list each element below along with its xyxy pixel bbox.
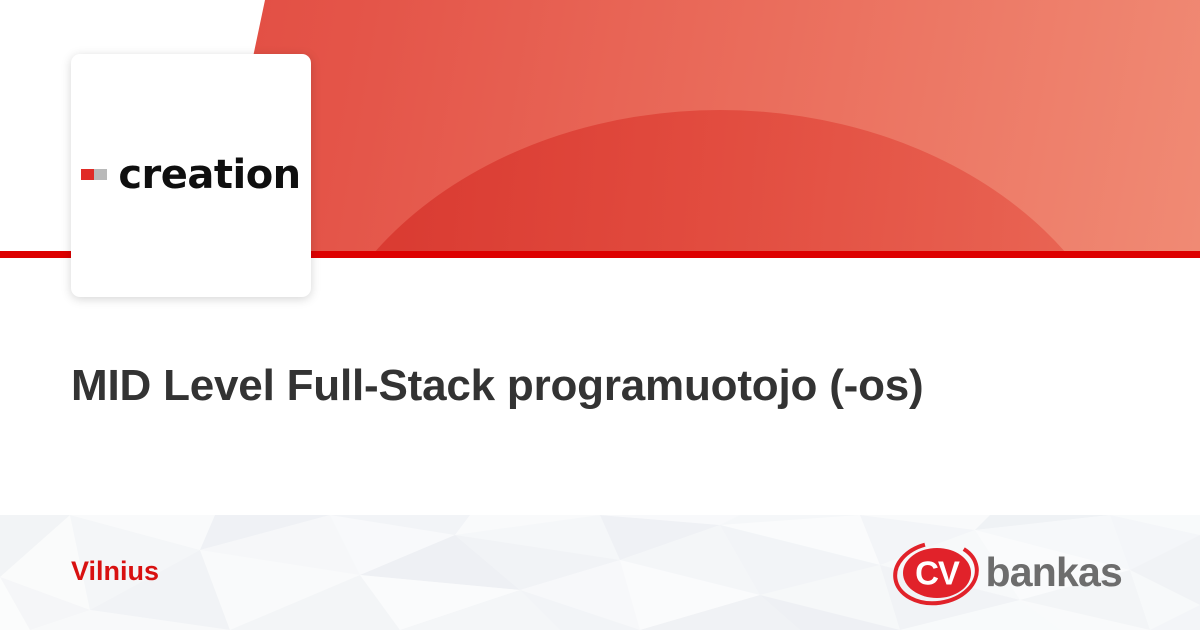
- job-location: Vilnius: [71, 556, 159, 587]
- svg-text:CV: CV: [915, 555, 960, 592]
- creation-square-gray-icon: [94, 169, 107, 180]
- creation-square-red-icon: [81, 169, 94, 180]
- company-logo-wordmark: creation: [118, 155, 300, 195]
- job-title: MID Level Full-Stack programuotojo (-os): [71, 357, 1121, 414]
- creation-squares-icon: [81, 169, 107, 180]
- cvbankas-logo[interactable]: CV bankas: [892, 540, 1123, 606]
- company-logo: creation: [81, 155, 300, 195]
- cv-badge-icon: CV: [892, 540, 984, 606]
- share-card: creation MID Level Full-Stack programuot…: [0, 0, 1200, 630]
- company-logo-card: creation: [71, 54, 311, 297]
- banner-arc-decoration: [300, 110, 1140, 252]
- cvbankas-wordmark: bankas: [986, 552, 1123, 593]
